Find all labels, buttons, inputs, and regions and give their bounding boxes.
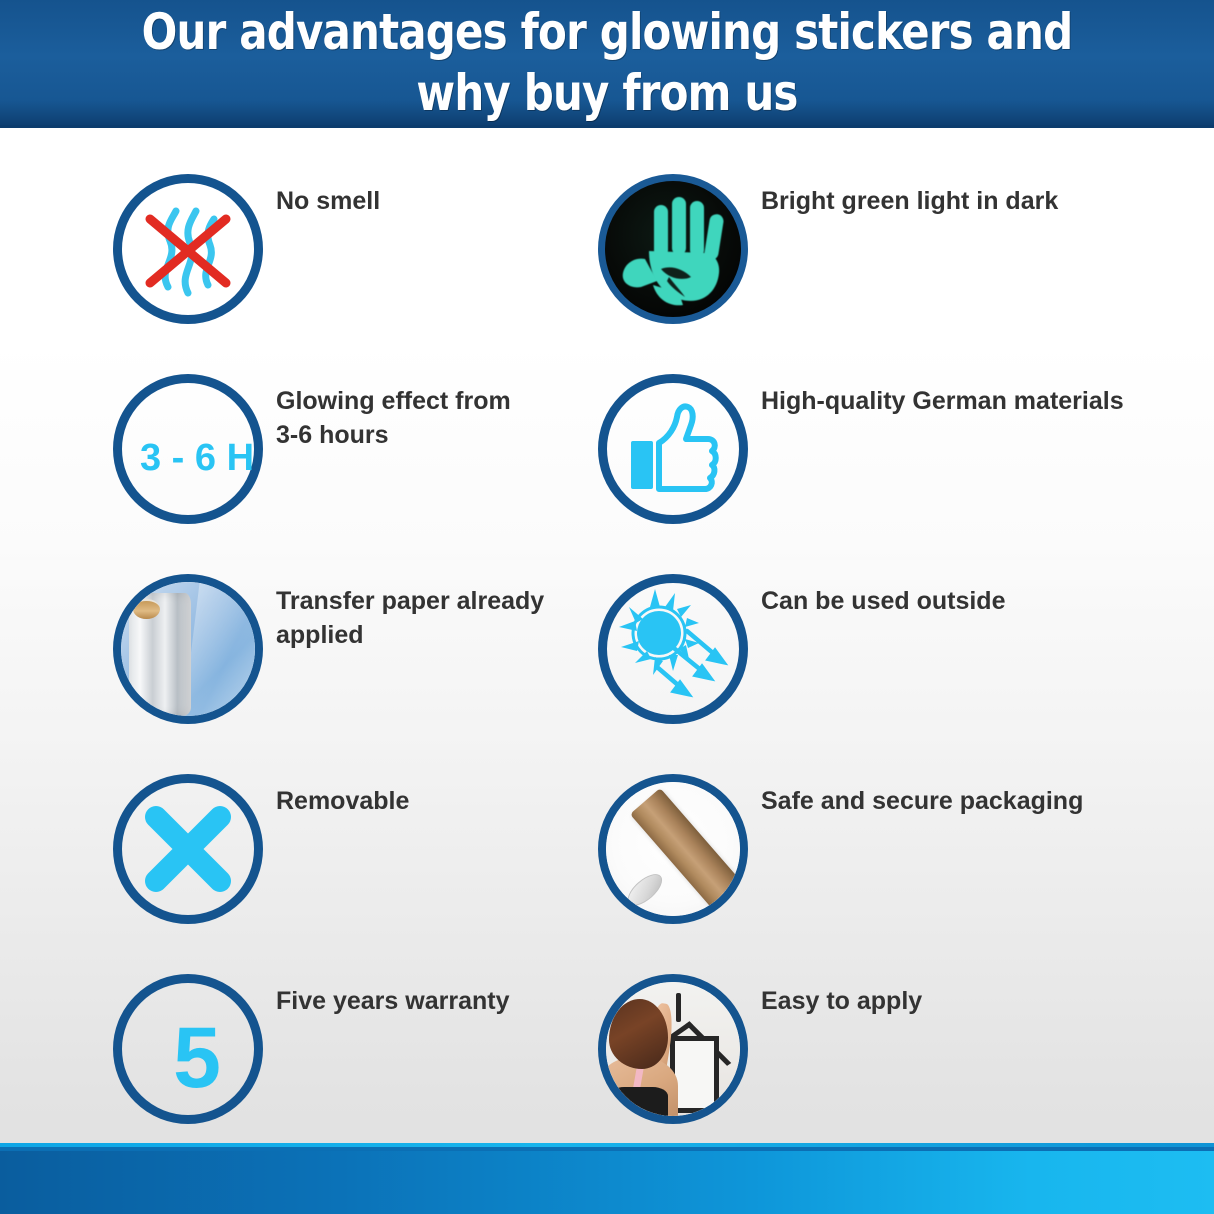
thumbs-up-art xyxy=(607,383,739,515)
handprint-glyph xyxy=(605,181,741,317)
no-smell-icon xyxy=(113,174,263,324)
transfer-film-roll-photo xyxy=(113,574,263,724)
mailing-tube-photo xyxy=(598,774,748,924)
sun-with-arrows-art xyxy=(607,583,739,715)
smoke-crossed-out-glyph xyxy=(122,183,254,315)
decal-hook xyxy=(676,993,681,1022)
feature-item-easy-to-apply: Easy to apply xyxy=(598,968,1078,1168)
sun-rays-arrows-glyph xyxy=(607,583,739,715)
page-title: Our advantages for glowing stickers and … xyxy=(97,2,1117,124)
feature-item-no-smell: No smell xyxy=(113,168,593,368)
feature-item-used-outside: Can be used outside xyxy=(598,568,1078,768)
feature-item-glowing-effect-duration: 3 - 6 H Glowing effect from 3-6 hours xyxy=(113,368,593,568)
woman-hair xyxy=(609,999,668,1069)
feature-item-removable: Removable xyxy=(113,768,593,968)
five-badge-text: 5 xyxy=(122,983,272,1133)
five-badge-icon: 5 xyxy=(113,974,263,1124)
hours-badge-text: 3 - 6 H xyxy=(122,383,272,533)
x-mark-glyph xyxy=(122,783,254,915)
cross-x-icon xyxy=(113,774,263,924)
no-smell-icon-art xyxy=(122,183,254,315)
film-core xyxy=(133,599,160,619)
hours-badge-icon: 3 - 6 H xyxy=(113,374,263,524)
thumbs-up-glyph xyxy=(607,383,739,515)
feature-label: Easy to apply xyxy=(761,984,1161,1018)
feature-label: Bright green light in dark xyxy=(761,184,1161,218)
woman-top xyxy=(609,1087,668,1116)
feature-label: Safe and secure packaging xyxy=(761,784,1161,818)
feature-item-bright-green-light: Bright green light in dark xyxy=(598,168,1078,368)
film-roll xyxy=(129,593,191,716)
advantages-infographic: Our advantages for glowing stickers and … xyxy=(0,0,1214,1214)
feature-label: High-quality German materials xyxy=(761,384,1161,418)
cross-x-art xyxy=(122,783,254,915)
feature-label: Can be used outside xyxy=(761,584,1161,618)
thumbs-up-icon xyxy=(598,374,748,524)
woman-applying-decal-art xyxy=(606,982,740,1116)
mailing-tube-art xyxy=(606,782,740,916)
feature-item-german-materials: High-quality German materials xyxy=(598,368,1078,568)
woman-applying-decal-photo xyxy=(598,974,748,1124)
feature-grid: No smell xyxy=(0,128,1214,1140)
feature-item-secure-packaging: Safe and secure packaging xyxy=(598,768,1078,968)
glowing-handprint-icon xyxy=(598,174,748,324)
sun-with-arrows-icon xyxy=(598,574,748,724)
glowing-handprint-art xyxy=(605,181,741,317)
header-banner: Our advantages for glowing stickers and … xyxy=(0,0,1214,128)
transfer-film-roll-art xyxy=(121,582,255,716)
footer-bar xyxy=(0,1147,1214,1214)
feature-item-five-years-warranty: 5 Five years warranty xyxy=(113,968,593,1168)
feature-item-transfer-paper: Transfer paper already applied xyxy=(113,568,593,768)
